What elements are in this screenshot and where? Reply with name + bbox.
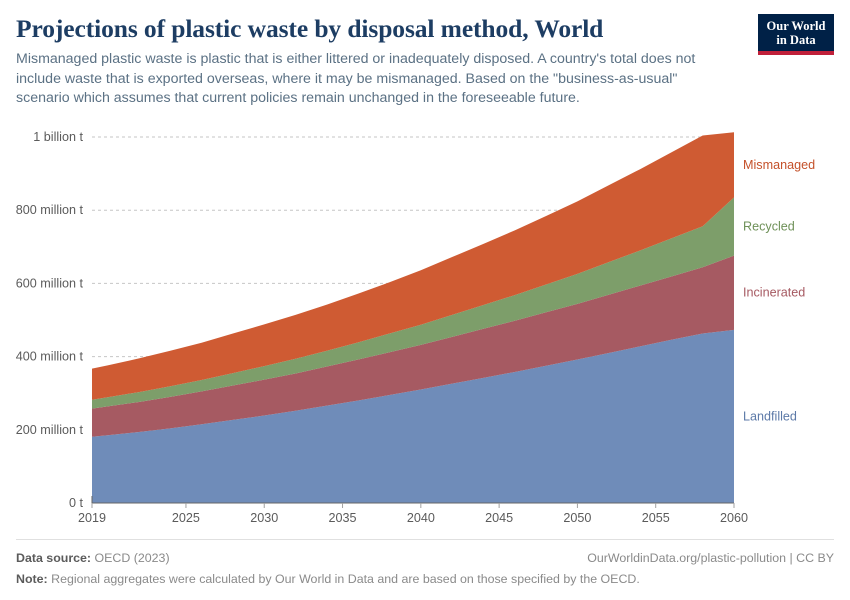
footer-note-value: Regional aggregates were calculated by O… — [51, 572, 640, 586]
x-axis-tick-label: 2060 — [720, 511, 748, 525]
owid-logo-line1: Our World — [762, 19, 830, 33]
x-axis-tick-label: 2025 — [172, 511, 200, 525]
y-axis-tick-labels: 0 t200 million t400 million t600 million… — [16, 130, 83, 510]
series-label-landfilled[interactable]: Landfilled — [743, 409, 797, 423]
y-axis-tick-label: 200 million t — [16, 422, 83, 436]
chart-series-areas — [92, 132, 734, 503]
chart-subtitle: Mismanaged plastic waste is plastic that… — [16, 50, 724, 109]
chart-area: 0 t200 million t400 million t600 million… — [16, 121, 834, 536]
owid-logo-line2: in Data — [762, 33, 830, 47]
x-axis-tick-label: 2050 — [563, 511, 591, 525]
series-label-mismanaged[interactable]: Mismanaged — [743, 157, 815, 171]
stacked-area-chart: 0 t200 million t400 million t600 million… — [16, 121, 834, 536]
y-axis-tick-label: 800 million t — [16, 203, 83, 217]
data-source: Data source: OECD (2023) — [16, 549, 170, 567]
x-axis-tick-label: 2040 — [407, 511, 435, 525]
chart-footer: Data source: OECD (2023) OurWorldinData.… — [16, 539, 834, 588]
y-axis-tick-label: 0 t — [69, 496, 84, 510]
page-title: Projections of plastic waste by disposal… — [16, 14, 724, 44]
footer-note: Note: Regional aggregates were calculate… — [16, 570, 834, 588]
x-axis-tick-label: 2055 — [642, 511, 670, 525]
y-axis-tick-label: 400 million t — [16, 349, 83, 363]
y-axis-tick-label: 600 million t — [16, 276, 83, 290]
y-axis-tick-label: 1 billion t — [33, 130, 83, 144]
x-axis-tick-label: 2045 — [485, 511, 513, 525]
x-axis-tick-label: 2030 — [250, 511, 278, 525]
x-axis-tick-labels: 201920252030203520402045205020552060 — [78, 511, 748, 525]
x-axis-tick-label: 2019 — [78, 511, 106, 525]
owid-logo[interactable]: Our World in Data — [758, 14, 834, 55]
footer-note-label: Note: — [16, 572, 48, 586]
chart-page: Projections of plastic waste by disposal… — [0, 0, 850, 600]
series-label-incinerated[interactable]: Incinerated — [743, 285, 805, 299]
chart-header: Projections of plastic waste by disposal… — [16, 14, 834, 109]
data-source-value: OECD (2023) — [95, 551, 170, 565]
footer-link[interactable]: OurWorldinData.org/plastic-pollution | C… — [587, 549, 834, 567]
series-label-recycled[interactable]: Recycled — [743, 219, 795, 233]
data-source-label: Data source: — [16, 551, 91, 565]
x-axis-tick-label: 2035 — [329, 511, 357, 525]
series-inline-labels: LandfilledIncineratedRecycledMismanaged — [743, 157, 815, 423]
